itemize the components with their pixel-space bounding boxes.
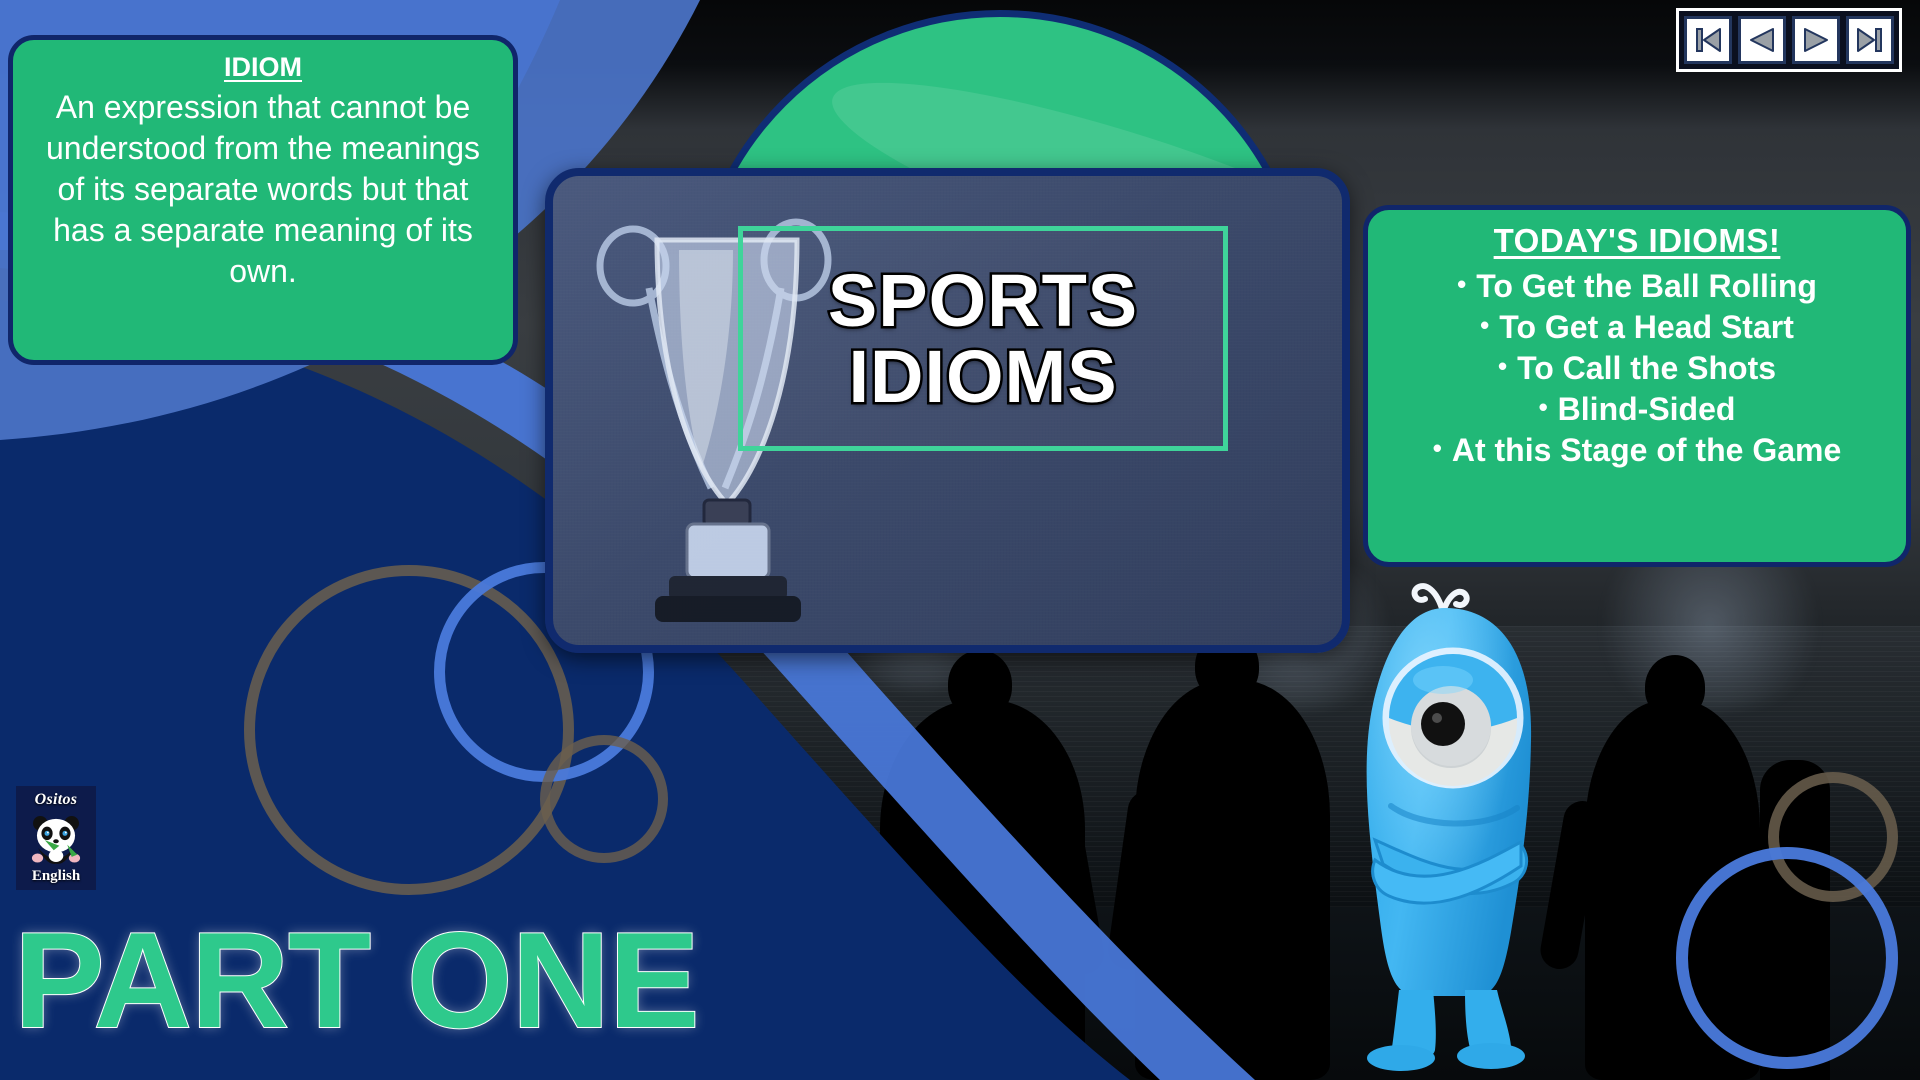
- play-next-icon: [1801, 25, 1831, 55]
- blue-alien-mascot: [1325, 572, 1565, 1072]
- panda-icon: [27, 811, 85, 867]
- idiom-text: To Call the Shots: [1517, 348, 1776, 389]
- part-label: PART ONE: [14, 902, 699, 1058]
- logo-bottom-word: English: [32, 868, 80, 885]
- idiom-text: To Get a Head Start: [1499, 307, 1794, 348]
- slide-canvas: SPORTS IDIOMS IDIOM An expression that c…: [0, 0, 1920, 1080]
- list-item: • At this Stage of the Game: [1386, 430, 1888, 471]
- previous-slide-button[interactable]: [1738, 16, 1786, 64]
- idiom-panel-heading: IDIOM: [35, 52, 491, 83]
- bullet-icon: •: [1457, 266, 1466, 304]
- ositos-english-logo: Ositos English: [16, 786, 96, 890]
- idiom-definition-text: An expression that cannot be understood …: [35, 87, 491, 292]
- decorative-ring: [1676, 847, 1898, 1069]
- bullet-icon: •: [1539, 389, 1548, 427]
- bullet-icon: •: [1480, 307, 1489, 345]
- bullet-icon: •: [1433, 430, 1442, 468]
- title-card: SPORTS IDIOMS: [545, 168, 1350, 653]
- idiom-text: At this Stage of the Game: [1452, 430, 1841, 471]
- slide-navigation-bar: [1676, 8, 1902, 72]
- bullet-icon: •: [1498, 348, 1507, 386]
- next-slide-button[interactable]: [1792, 16, 1840, 64]
- idiom-text: Blind-Sided: [1558, 389, 1736, 430]
- decorative-ring: [540, 735, 668, 863]
- title-inner-box: SPORTS IDIOMS: [738, 226, 1228, 451]
- first-slide-button[interactable]: [1684, 16, 1732, 64]
- idiom-text: To Get the Ball Rolling: [1476, 266, 1817, 307]
- skip-to-start-icon: [1693, 25, 1723, 55]
- previous-icon: [1747, 25, 1777, 55]
- todays-idioms-heading: TODAY'S IDIOMS!: [1386, 222, 1888, 260]
- last-slide-button[interactable]: [1846, 16, 1894, 64]
- list-item: • Blind-Sided: [1386, 389, 1888, 430]
- list-item: • To Get a Head Start: [1386, 307, 1888, 348]
- todays-idioms-list: • To Get the Ball Rolling • To Get a Hea…: [1386, 266, 1888, 471]
- idiom-definition-panel: IDIOM An expression that cannot be under…: [8, 35, 518, 365]
- todays-idioms-panel: TODAY'S IDIOMS! • To Get the Ball Rollin…: [1363, 205, 1911, 567]
- list-item: • To Get the Ball Rolling: [1386, 266, 1888, 307]
- skip-to-end-icon: [1855, 25, 1885, 55]
- list-item: • To Call the Shots: [1386, 348, 1888, 389]
- title-line-1: SPORTS: [828, 263, 1138, 338]
- logo-top-word: Ositos: [35, 791, 78, 809]
- title-line-2: IDIOMS: [848, 339, 1117, 414]
